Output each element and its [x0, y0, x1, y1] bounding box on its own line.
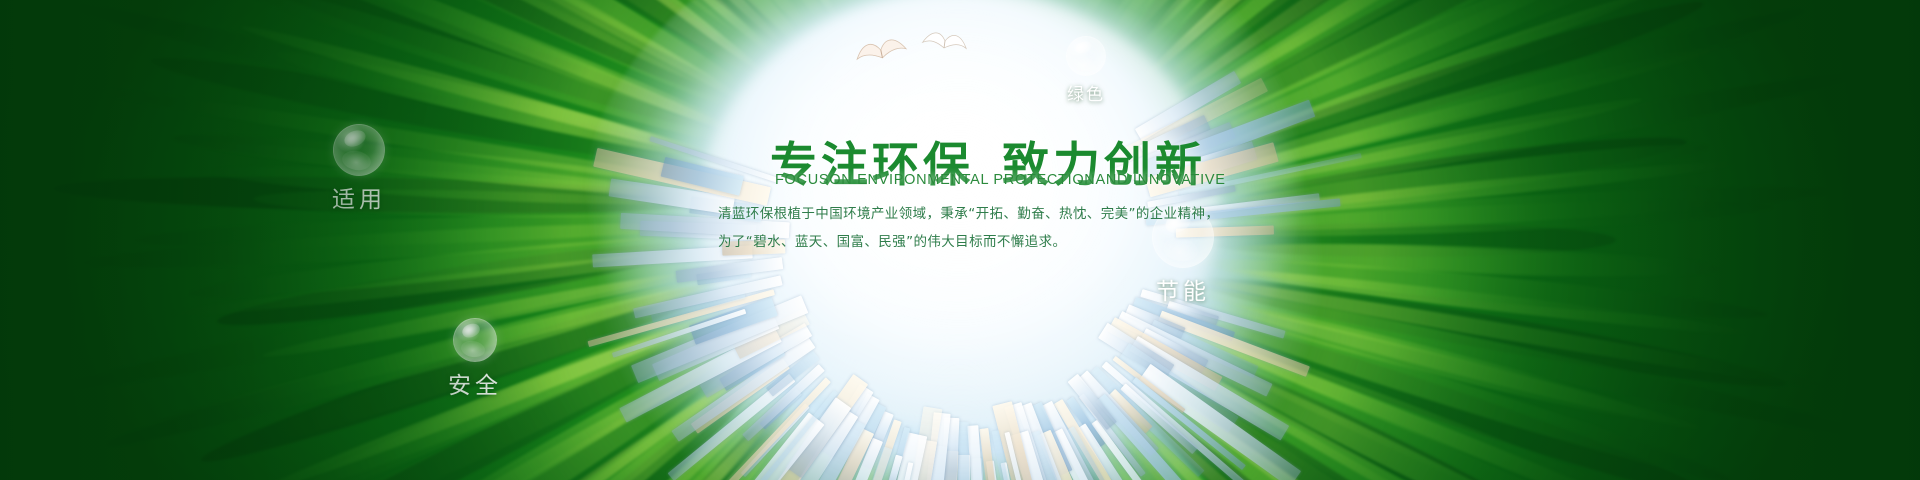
body-line-1: 清蓝环保根植于中国环境产业领域，秉承“开拓、勤奋、热忱、完美”的企业精神， [718, 200, 1278, 228]
body-line-2: 为了“碧水、蓝天、国富、民强”的伟大目标而不懈追求。 [718, 228, 1278, 256]
body-text: 清蓝环保根植于中国环境产业领域，秉承“开拓、勤奋、热忱、完美”的企业精神， 为了… [718, 200, 1278, 256]
english-subtitle: FOCUSON ENVIPONMENTAL PROTECTIONAND INNO… [775, 172, 1226, 188]
hero-banner: 适用 安全 绿色 节能 专注环保致力创新 FOCUSON ENVIPONMENT… [0, 0, 1920, 480]
banner-copy: 专注环保致力创新 FOCUSON ENVIPONMENTAL PROTECTIO… [0, 0, 1920, 480]
